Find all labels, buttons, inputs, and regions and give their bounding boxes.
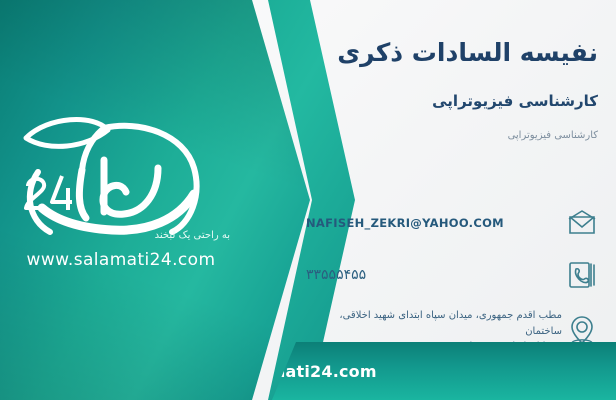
phone-book-icon bbox=[562, 256, 602, 294]
phone-value: ۳۳۵۵۵۴۵۵ bbox=[302, 267, 562, 283]
address-line-1: مطب اقدم جمهوری، میدان سپاه ابتدای شهید … bbox=[306, 308, 562, 339]
salamati24-logo-icon bbox=[8, 108, 248, 248]
email-value: NAFISEH_ZEKRI@YAHOO.COM bbox=[302, 216, 562, 230]
contact-row-phone[interactable]: ۳۳۵۵۵۴۵۵ bbox=[302, 256, 602, 294]
business-card: به راحتی یک لبخند www.salamati24.com نفی… bbox=[0, 0, 616, 400]
person-full-name: نفیسه السادات ذکری bbox=[178, 38, 598, 67]
brand-tagline: به راحتی یک لبخند bbox=[110, 230, 230, 241]
contact-row-email[interactable]: NAFISEH_ZEKRI@YAHOO.COM bbox=[302, 204, 602, 242]
brand-website-url: www.salamati24.com bbox=[8, 250, 234, 270]
person-field-note: کارشناسی فیزیوتراپی bbox=[178, 130, 598, 141]
person-profession: کارشناسی فیزیوتراپی bbox=[178, 92, 598, 110]
envelope-icon bbox=[562, 204, 602, 242]
